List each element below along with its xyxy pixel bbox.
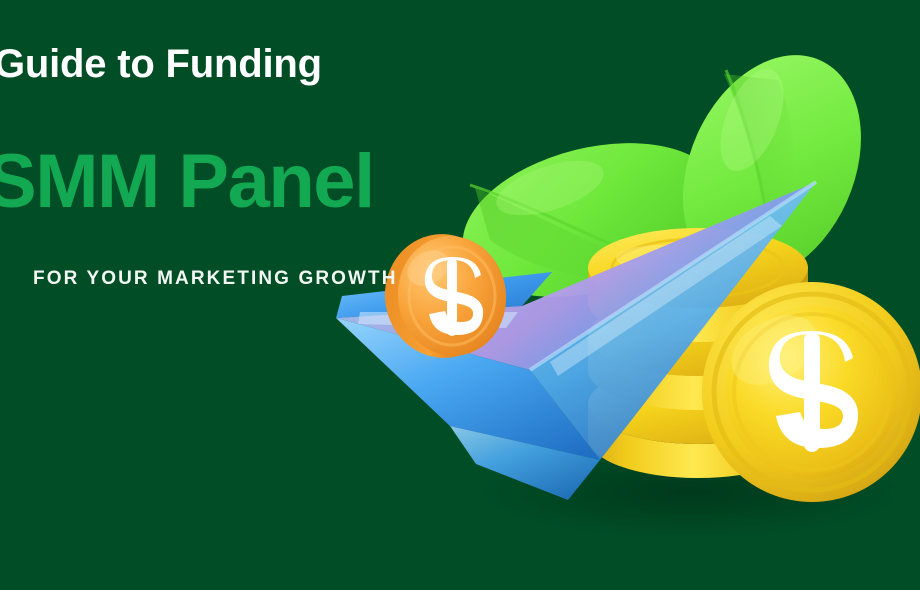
gold-dollar-coin — [702, 282, 920, 502]
smm-panel-banner: Guide to Funding SMM Panel FOR YOUR MARK… — [0, 0, 920, 590]
banner-text-block: Guide to Funding SMM Panel FOR YOUR MARK… — [0, 0, 560, 590]
banner-subline: FOR YOUR MARKETING GROWTH — [33, 268, 398, 290]
banner-headline: SMM Panel — [0, 140, 374, 224]
banner-eyebrow: Guide to Funding — [0, 42, 322, 86]
